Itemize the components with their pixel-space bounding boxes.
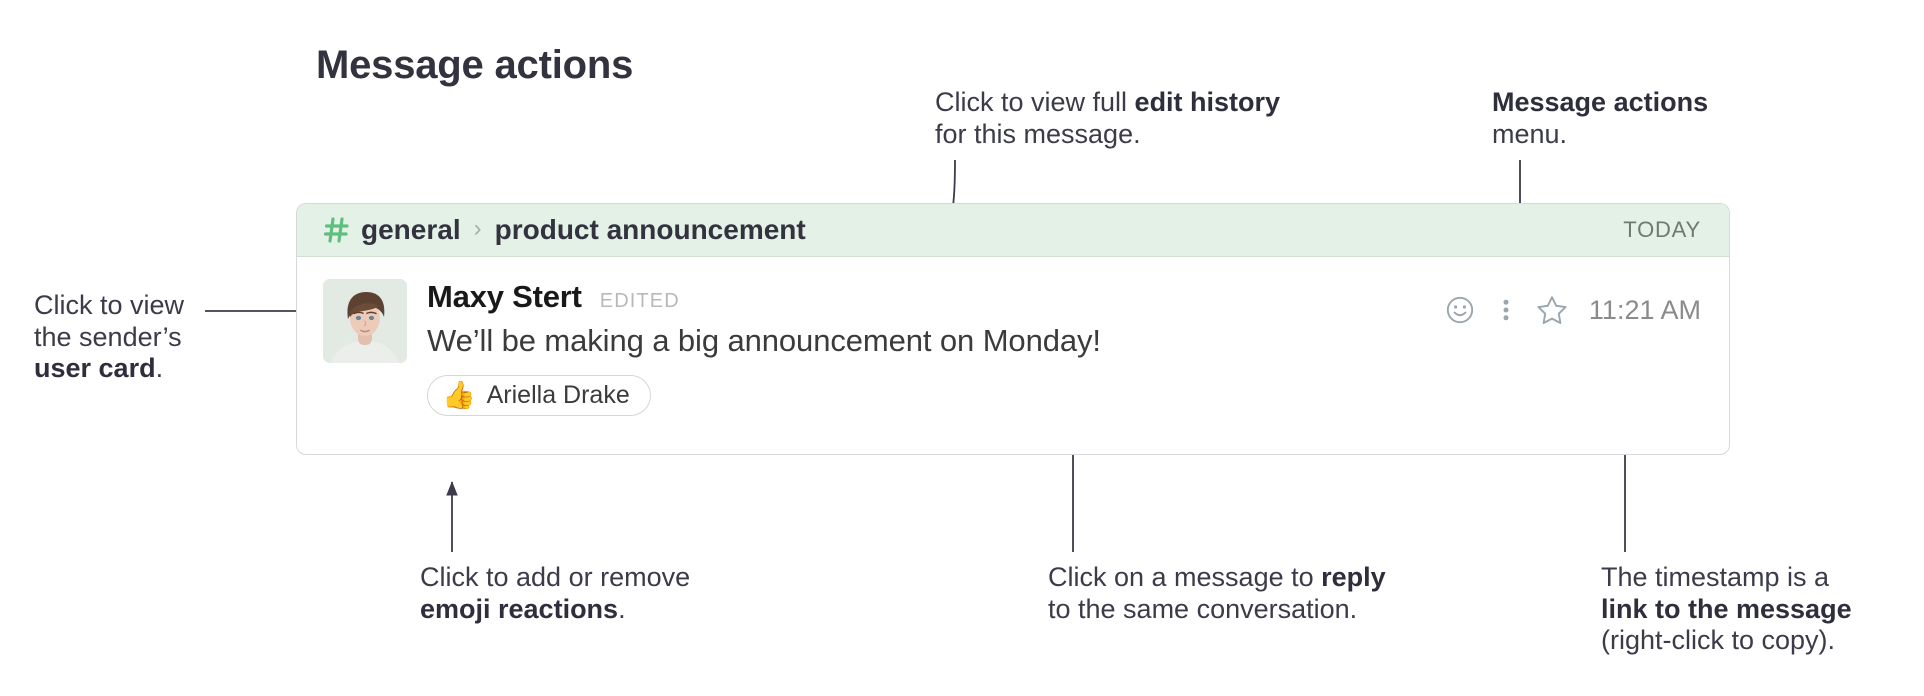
- reaction-list: 👍 Ariella Drake: [427, 375, 1729, 416]
- annotation-edit-history: Click to view full edit history for this…: [935, 87, 1280, 150]
- page-title: Message actions: [316, 43, 633, 88]
- annotation-emoji-reactions: Click to add or remove emoji reactions.: [420, 562, 690, 625]
- annotation-text: (right-click to copy).: [1601, 625, 1852, 657]
- annotation-text: the sender’s: [34, 322, 184, 354]
- annotation-reply: Click on a message to reply to the same …: [1048, 562, 1386, 625]
- sender-name[interactable]: Maxy Stert: [427, 279, 582, 315]
- annotation-emphasis: user card: [34, 353, 156, 383]
- date-label: TODAY: [1623, 217, 1701, 243]
- annotation-text: .: [156, 353, 164, 383]
- annotation-emphasis: emoji reactions: [420, 594, 618, 624]
- annotation-text: .: [618, 594, 626, 624]
- diagram-stage: Message actions Click to view full edit …: [0, 0, 1924, 696]
- annotation-text: Click on a message to: [1048, 562, 1321, 592]
- star-icon[interactable]: [1529, 287, 1575, 333]
- breadcrumb-stream[interactable]: general: [361, 214, 461, 246]
- annotation-timestamp: The timestamp is a link to the message (…: [1601, 562, 1852, 657]
- edited-badge[interactable]: EDITED: [600, 290, 680, 313]
- annotation-text: Click to view: [34, 290, 184, 322]
- annotation-text: Click to view full: [935, 87, 1135, 117]
- thumbs-up-icon: 👍: [442, 382, 476, 409]
- reaction-pill[interactable]: 👍 Ariella Drake: [427, 375, 651, 416]
- message-timestamp[interactable]: 11:21 AM: [1589, 295, 1701, 326]
- annotation-emphasis: reply: [1321, 562, 1386, 592]
- message-card: general › product announcement TODAY: [296, 203, 1730, 455]
- annotation-text: Click to add or remove: [420, 562, 690, 594]
- message-actions-menu-icon[interactable]: [1483, 287, 1529, 333]
- breadcrumb-topic[interactable]: product announcement: [495, 214, 806, 246]
- annotation-emphasis: edit history: [1135, 87, 1281, 117]
- annotation-user-card: Click to view the sender’s user card.: [34, 290, 184, 385]
- conversation-header: general › product announcement TODAY: [297, 204, 1729, 257]
- breadcrumb-separator-icon: ›: [474, 215, 482, 243]
- annotation-text: to the same conversation.: [1048, 594, 1386, 626]
- avatar[interactable]: [323, 279, 407, 363]
- annotation-emphasis: Message actions: [1492, 87, 1708, 117]
- message-actions: 11:21 AM: [1437, 287, 1701, 333]
- annotation-text: The timestamp is a: [1601, 562, 1852, 594]
- hash-icon: [323, 216, 351, 244]
- reaction-label: Ariella Drake: [487, 381, 630, 410]
- annotation-emphasis: link to the message: [1601, 594, 1852, 624]
- message-row[interactable]: Maxy Stert EDITED We’ll be making a big …: [297, 257, 1729, 416]
- annotation-text: menu.: [1492, 119, 1708, 151]
- emoji-reaction-icon[interactable]: [1437, 287, 1483, 333]
- annotation-text: for this message.: [935, 119, 1280, 151]
- annotation-actions-menu: Message actions menu.: [1492, 87, 1708, 150]
